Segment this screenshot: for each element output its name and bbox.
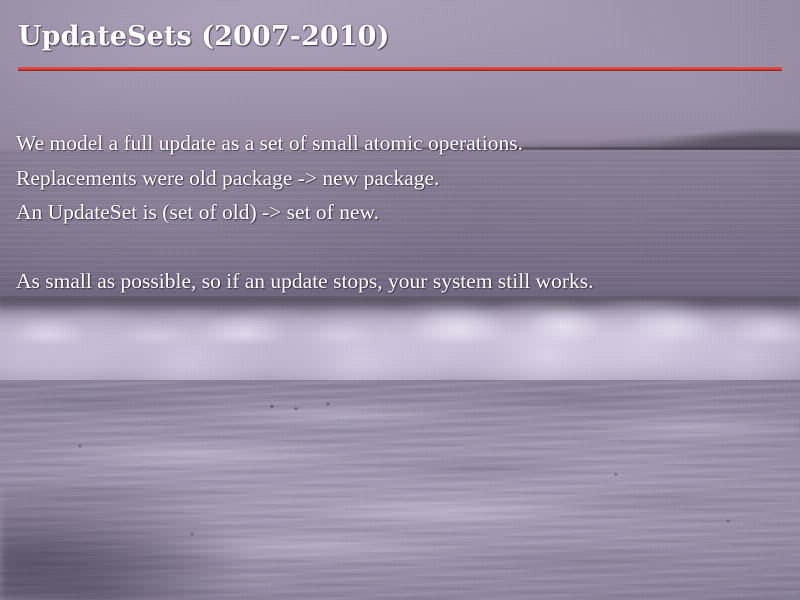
presentation-slide: UpdateSets (2007-2010) We model a full u… (0, 0, 800, 600)
body-line-3: An UpdateSet is (set of old) -> set of n… (16, 195, 786, 230)
body-line-1: We model a full update as a set of small… (16, 126, 786, 161)
title-underline-rule (18, 67, 782, 71)
slide-content: UpdateSets (2007-2010) We model a full u… (0, 0, 800, 600)
slide-body: We model a full update as a set of small… (16, 126, 786, 299)
body-line-2: Replacements were old package -> new pac… (16, 161, 786, 196)
body-line-4: As small as possible, so if an update st… (16, 264, 786, 299)
slide-title: UpdateSets (2007-2010) (18, 22, 389, 52)
